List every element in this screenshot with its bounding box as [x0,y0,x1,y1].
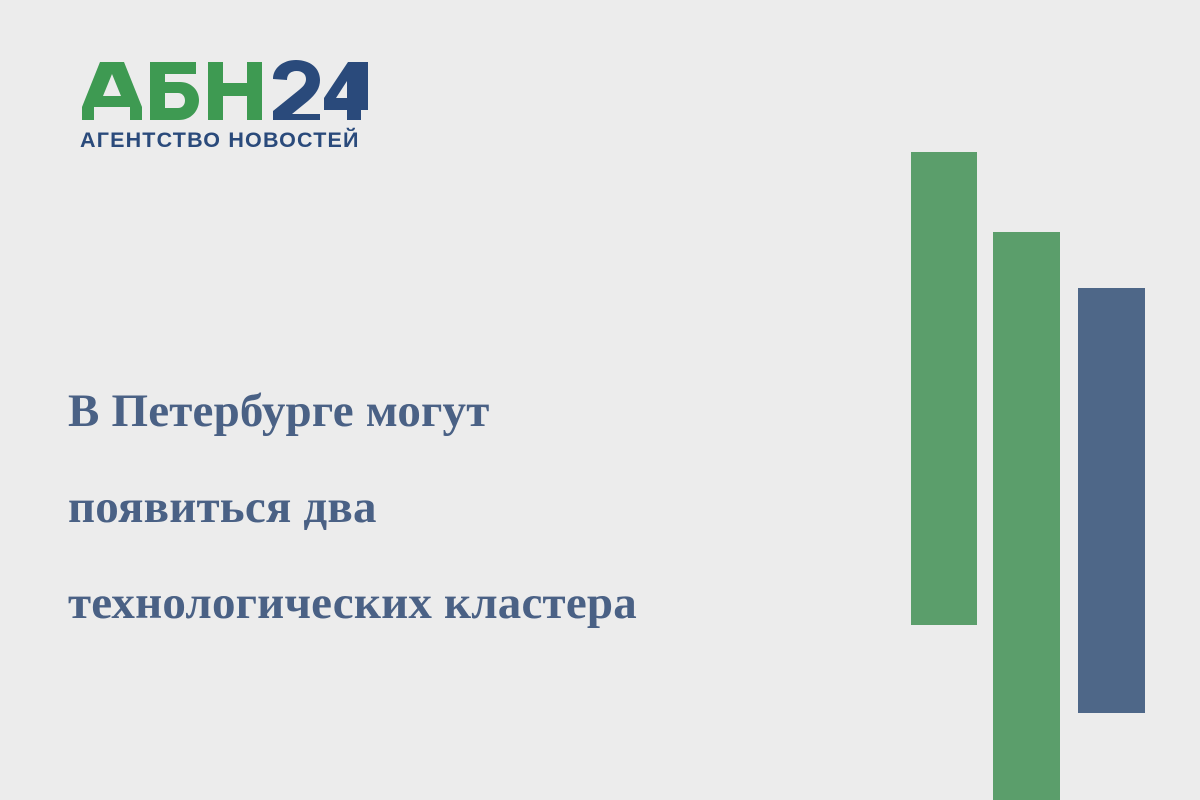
abn24-logo-icon [78,60,368,122]
decorative-bar-2 [993,232,1060,800]
logo-wordmark [78,60,368,122]
headline-line-2: появиться два [68,459,858,555]
headline-line-3: технологических кластера [68,555,858,651]
headline-line-1: В Петербурге могут [68,363,858,459]
site-logo[interactable]: АГЕНТСТВО НОВОСТЕЙ [78,60,368,160]
decorative-bar-3 [1078,288,1145,713]
news-card: АГЕНТСТВО НОВОСТЕЙ В Петербурге могут по… [0,0,1200,800]
logo-tagline: АГЕНТСТВО НОВОСТЕЙ [80,128,360,153]
decorative-bar-1 [911,152,977,625]
headline: В Петербурге могут появиться два техноло… [68,363,858,651]
